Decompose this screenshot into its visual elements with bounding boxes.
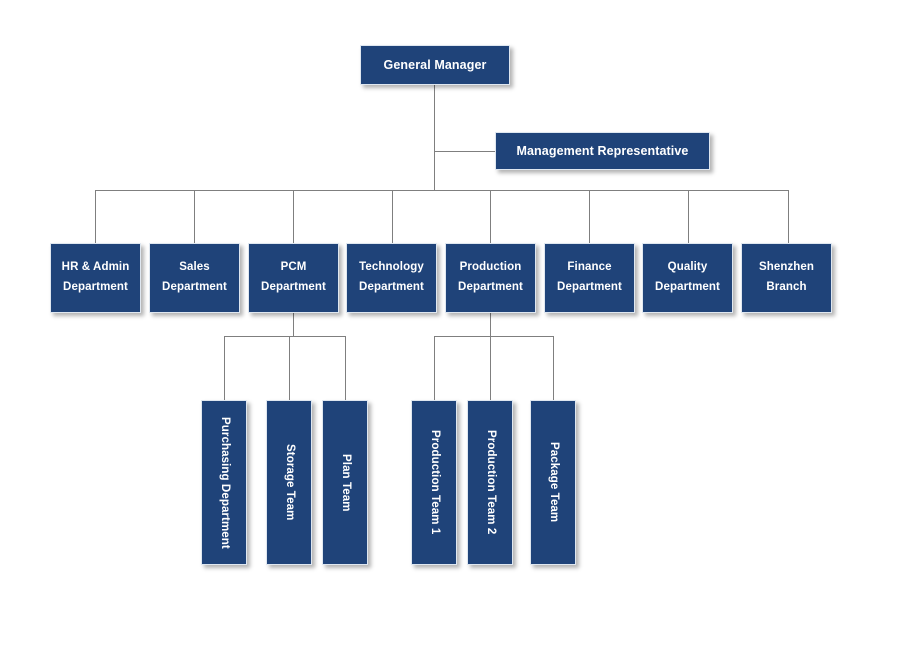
- node-management-representative-label: Management Representative: [516, 144, 688, 158]
- node-production-team-2[interactable]: Production Team 2: [467, 400, 513, 565]
- connector-drop-storage-team: [289, 336, 290, 400]
- node-finance-department-line2: Department: [557, 282, 622, 294]
- connector-drop-hr-admin: [95, 190, 96, 243]
- node-sales-department-line2: Department: [162, 282, 227, 294]
- node-production-department-line2: Department: [458, 282, 523, 294]
- connector-pcm-bus: [224, 336, 346, 337]
- node-finance-department[interactable]: Finance Department: [544, 243, 635, 313]
- node-production-team-1-label: Production Team 1: [428, 430, 440, 534]
- connector-drop-production: [490, 190, 491, 243]
- node-technology-department-line2: Department: [359, 282, 424, 294]
- node-plan-team[interactable]: Plan Team: [322, 400, 368, 565]
- node-production-team-1[interactable]: Production Team 1: [411, 400, 457, 565]
- node-quality-department-line2: Department: [655, 282, 720, 294]
- node-technology-department[interactable]: Technology Department: [346, 243, 437, 313]
- connector-staff-branch: [434, 151, 495, 152]
- node-shenzhen-branch[interactable]: Shenzhen Branch: [741, 243, 832, 313]
- node-quality-department[interactable]: Quality Department: [642, 243, 733, 313]
- node-general-manager-label: General Manager: [384, 58, 487, 72]
- node-general-manager[interactable]: General Manager: [360, 45, 510, 85]
- connector-drop-production-team-2: [490, 336, 491, 400]
- connector-drop-plan-team: [345, 336, 346, 400]
- node-sales-department-line1: Sales: [179, 262, 210, 274]
- node-production-department[interactable]: Production Department: [445, 243, 536, 313]
- connector-drop-quality: [688, 190, 689, 243]
- node-production-department-line1: Production: [460, 262, 522, 274]
- node-storage-team-label: Storage Team: [283, 444, 295, 520]
- node-purchasing-department[interactable]: Purchasing Department: [201, 400, 247, 565]
- connector-production-trunk: [490, 313, 491, 337]
- node-pcm-department-line1: PCM: [281, 262, 307, 274]
- node-purchasing-department-label: Purchasing Department: [218, 417, 230, 549]
- connector-drop-sales: [194, 190, 195, 243]
- node-shenzhen-branch-line1: Shenzhen: [759, 262, 814, 274]
- connector-drop-shenzhen: [788, 190, 789, 243]
- connector-pcm-trunk: [293, 313, 294, 337]
- node-sales-department[interactable]: Sales Department: [149, 243, 240, 313]
- node-package-team[interactable]: Package Team: [530, 400, 576, 565]
- node-quality-department-line1: Quality: [668, 262, 708, 274]
- connector-department-bus: [95, 190, 789, 191]
- connector-root-trunk: [434, 85, 435, 191]
- connector-drop-pcm: [293, 190, 294, 243]
- connector-drop-production-team-1: [434, 336, 435, 400]
- connector-drop-purchasing-department: [224, 336, 225, 400]
- node-pcm-department[interactable]: PCM Department: [248, 243, 339, 313]
- node-hr-admin-department-line2: Department: [63, 282, 128, 294]
- node-hr-admin-department-line1: HR & Admin: [62, 262, 130, 274]
- node-technology-department-line1: Technology: [359, 262, 424, 274]
- node-plan-team-label: Plan Team: [339, 454, 351, 512]
- connector-drop-technology: [392, 190, 393, 243]
- node-production-team-2-label: Production Team 2: [484, 430, 496, 534]
- node-hr-admin-department[interactable]: HR & Admin Department: [50, 243, 141, 313]
- connector-drop-finance: [589, 190, 590, 243]
- node-package-team-label: Package Team: [547, 442, 559, 522]
- node-management-representative[interactable]: Management Representative: [495, 132, 710, 170]
- connector-drop-package-team: [553, 336, 554, 400]
- connector-production-bus: [434, 336, 554, 337]
- org-chart-canvas: General Manager Management Representativ…: [0, 0, 922, 648]
- node-shenzhen-branch-line2: Branch: [766, 282, 806, 294]
- node-storage-team[interactable]: Storage Team: [266, 400, 312, 565]
- node-pcm-department-line2: Department: [261, 282, 326, 294]
- node-finance-department-line1: Finance: [567, 262, 611, 274]
